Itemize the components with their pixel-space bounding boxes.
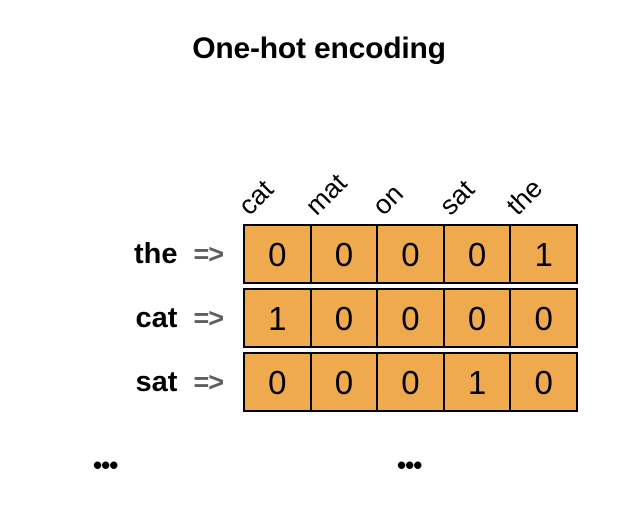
page-title: One-hot encoding (0, 32, 638, 66)
matrix-cell: 1 (445, 354, 512, 410)
matrix-ellipsis: ••• (397, 452, 421, 478)
maps-to-arrow-icon: => (193, 241, 223, 268)
matrix-cell: 0 (312, 290, 379, 346)
row-word: cat (136, 304, 178, 333)
matrix-cell: 0 (511, 290, 576, 346)
matrix-cell: 0 (245, 354, 312, 410)
matrix-cell: 0 (445, 290, 512, 346)
table-row: 0 0 0 1 0 (243, 352, 578, 412)
matrix-cell: 0 (312, 226, 379, 282)
matrix-cell: 0 (511, 354, 576, 410)
matrix-cell: 0 (312, 354, 379, 410)
column-header-the: the (502, 174, 548, 220)
column-header-cat: cat (234, 175, 279, 220)
matrix-cell: 1 (511, 226, 576, 282)
column-header-sat: sat (435, 175, 480, 220)
one-hot-encoding-figure: One-hot encoding cat mat on sat the the … (0, 0, 638, 522)
table-row: 0 0 0 0 1 (243, 224, 578, 284)
matrix-cell: 1 (245, 290, 312, 346)
maps-to-arrow-icon: => (193, 305, 223, 332)
row-label-the: the => (0, 224, 233, 284)
column-header-on: on (368, 180, 408, 220)
row-label-sat: sat => (0, 352, 233, 412)
row-word: sat (136, 368, 178, 397)
matrix-cell: 0 (245, 226, 312, 282)
row-word: the (134, 240, 178, 269)
matrix-cell: 0 (378, 290, 445, 346)
column-header-mat: mat (301, 169, 352, 220)
matrix-cell: 0 (445, 226, 512, 282)
row-label-cat: cat => (0, 288, 233, 348)
row-labels-ellipsis: ••• (93, 452, 117, 478)
matrix-cell: 0 (378, 354, 445, 410)
table-row: 1 0 0 0 0 (243, 288, 578, 348)
matrix-cell: 0 (378, 226, 445, 282)
maps-to-arrow-icon: => (193, 369, 223, 396)
